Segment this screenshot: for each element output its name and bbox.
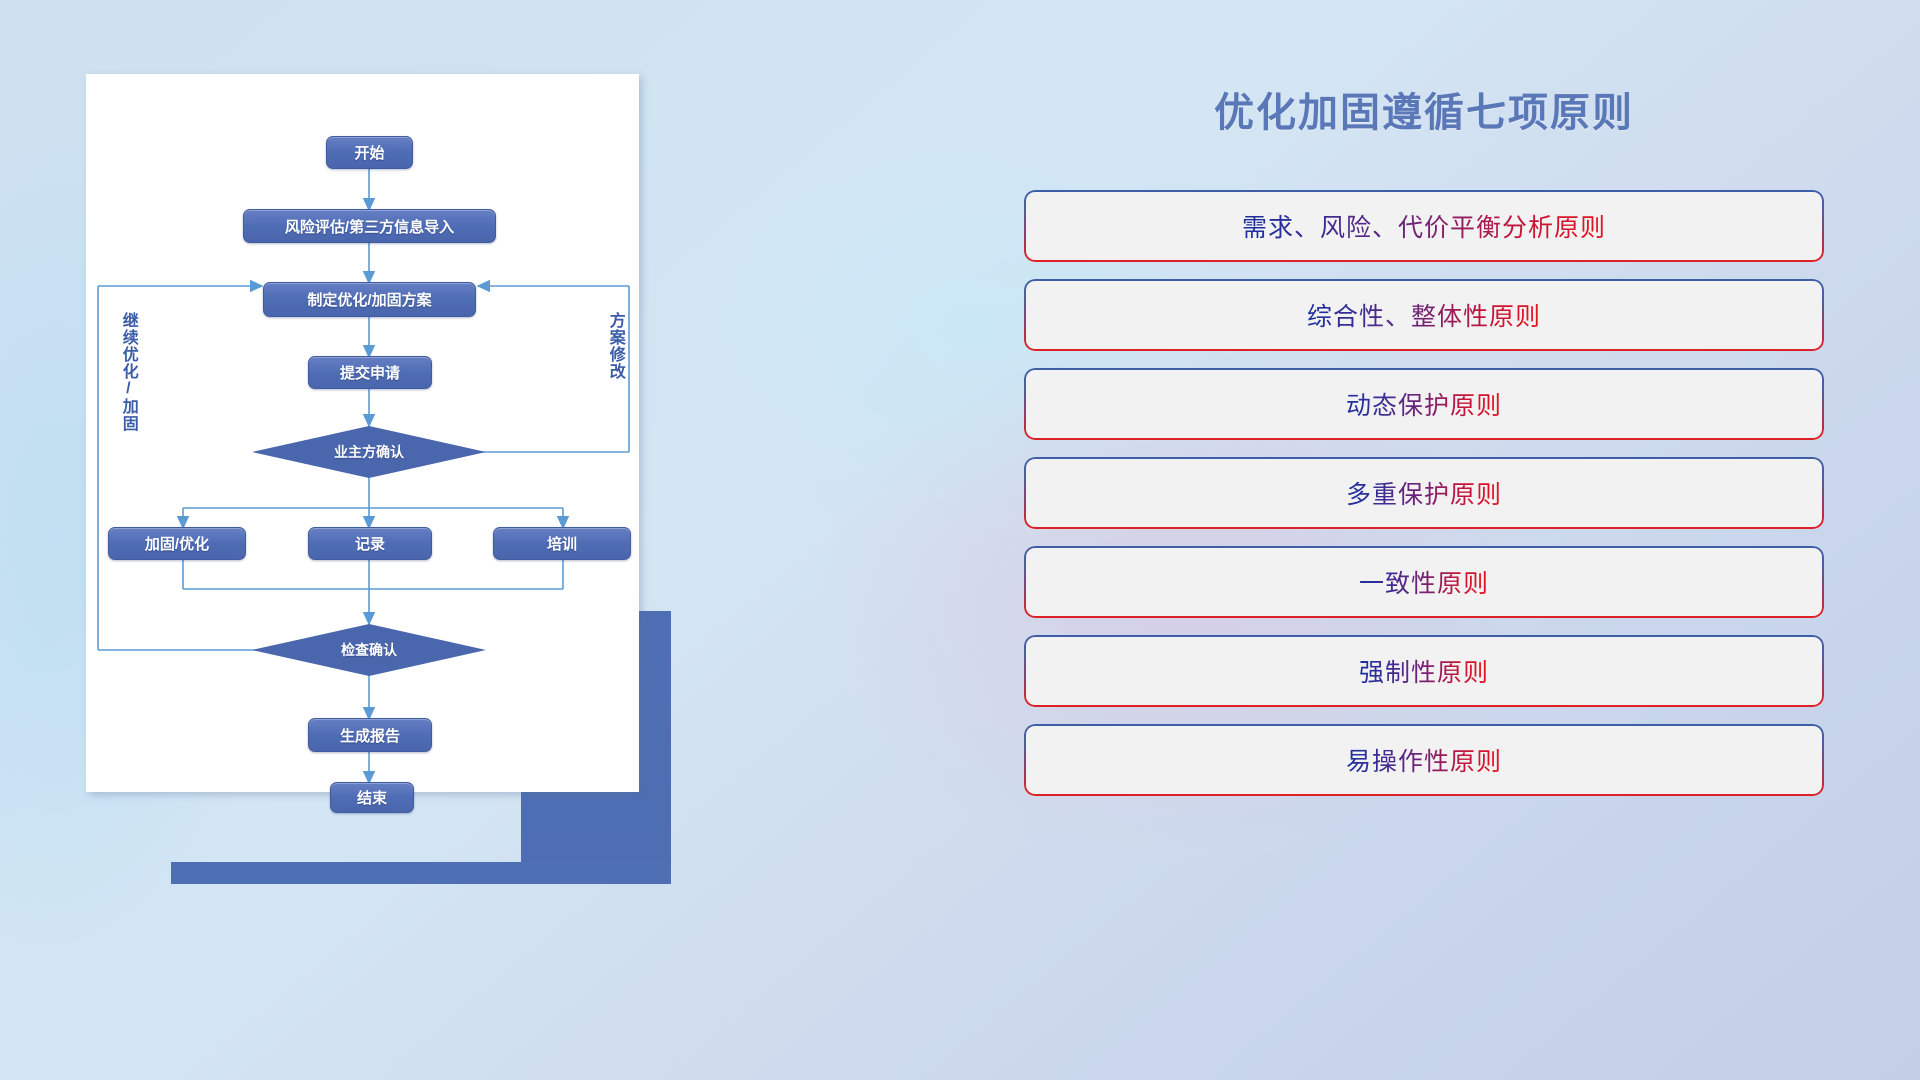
flow-node-start[interactable]: 开始 <box>326 136 413 169</box>
principle-label: 多重保护原则 <box>1346 475 1502 511</box>
principle-label: 综合性、整体性原则 <box>1307 297 1541 333</box>
flow-node-generate-report[interactable]: 生成报告 <box>308 718 432 752</box>
principle-card[interactable]: 动态保护原则 <box>1024 368 1824 440</box>
flow-node-end[interactable]: 结束 <box>330 782 414 813</box>
flow-node-submit-application[interactable]: 提交申请 <box>308 356 432 389</box>
principle-label: 动态保护原则 <box>1346 386 1502 422</box>
flow-node-record[interactable]: 记录 <box>308 527 432 560</box>
flow-node-owner-confirm[interactable]: 业主方确认 <box>289 438 449 466</box>
flow-node-reinforce[interactable]: 加固/优化 <box>108 527 246 560</box>
flowchart-connectors <box>86 74 639 792</box>
edge-label-plan-revision: 方案修改 <box>606 312 623 430</box>
principle-card[interactable]: 易操作性原则 <box>1024 724 1824 796</box>
flow-node-make-plan[interactable]: 制定优化/加固方案 <box>263 282 476 317</box>
flowchart-card: 继续优化/加固 方案修改 开始 风险评估/第三方信息导入 制定优化/加固方案 提… <box>86 74 639 792</box>
edge-label-continue-optimize: 继续优化/加固 <box>119 312 136 462</box>
page-title: 优化加固遵循七项原则 <box>1024 80 1824 138</box>
flow-node-risk-assessment[interactable]: 风险评估/第三方信息导入 <box>243 209 496 243</box>
principle-card[interactable]: 综合性、整体性原则 <box>1024 279 1824 351</box>
principle-label: 需求、风险、代价平衡分析原则 <box>1242 208 1606 244</box>
principle-card[interactable]: 一致性原则 <box>1024 546 1824 618</box>
principles-panel: 优化加固遵循七项原则 需求、风险、代价平衡分析原则 综合性、整体性原则 动态保护… <box>1024 80 1824 813</box>
flowchart-panel: 继续优化/加固 方案修改 开始 风险评估/第三方信息导入 制定优化/加固方案 提… <box>86 74 656 792</box>
principle-label: 易操作性原则 <box>1346 742 1502 778</box>
principle-label: 一致性原则 <box>1359 564 1489 600</box>
flow-node-check-confirm[interactable]: 检查确认 <box>289 636 449 664</box>
principle-label: 强制性原则 <box>1359 653 1489 689</box>
principle-card[interactable]: 强制性原则 <box>1024 635 1824 707</box>
flow-node-training[interactable]: 培训 <box>493 527 631 560</box>
principle-card[interactable]: 多重保护原则 <box>1024 457 1824 529</box>
principle-card[interactable]: 需求、风险、代价平衡分析原则 <box>1024 190 1824 262</box>
